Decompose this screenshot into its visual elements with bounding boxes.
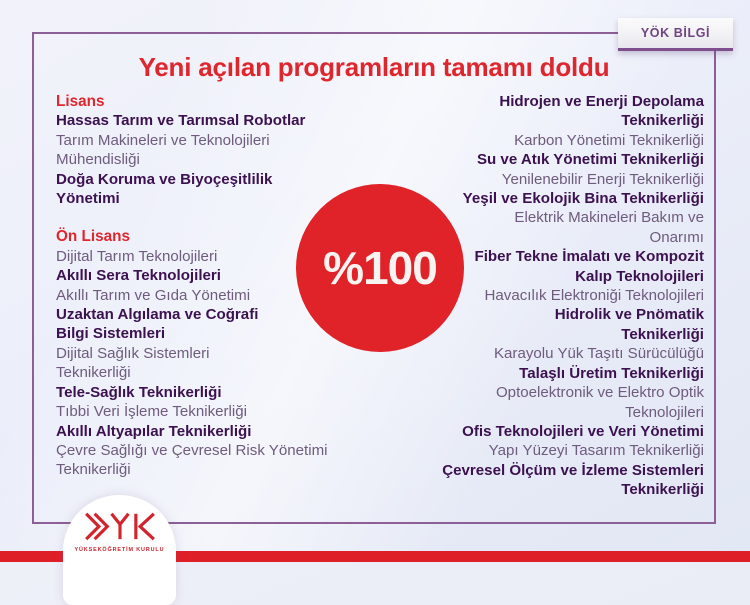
right-program-line: Çevresel Ölçüm ve İzleme Sistemleri (432, 461, 704, 480)
percentage-value: %100 (323, 241, 437, 295)
left-program-line: Çevre Sağlığı ve Çevresel Risk Yönetimi (56, 441, 348, 460)
right-program-line: Teknikerliği (432, 480, 704, 499)
right-program-line: Havacılık Elektroniği Teknolojileri (432, 286, 704, 305)
left-program-line (56, 208, 348, 227)
right-program-column: Hidrojen ve Enerji DepolamaTeknikerliğiK… (432, 92, 704, 500)
left-program-line: Tıbbi Veri İşleme Teknikerliği (56, 402, 348, 421)
right-program-line: Karbon Yönetimi Teknikerliği (432, 131, 704, 150)
right-program-line: Yapı Yüzeyi Tasarım Teknikerliği (432, 441, 704, 460)
left-program-line: Dijital Sağlık Sistemleri (56, 344, 348, 363)
right-program-line: Fiber Tekne İmalatı ve Kompozit (432, 247, 704, 266)
percentage-circle: %100 (296, 184, 464, 352)
left-program-line: Mühendisliği (56, 150, 348, 169)
right-program-line: Talaşlı Üretim Teknikerliği (432, 364, 704, 383)
right-program-line: Optoelektronik ve Elektro Optik (432, 383, 704, 402)
left-program-line: Bilgi Sistemleri (56, 324, 348, 343)
right-program-line: Su ve Atık Yönetimi Teknikerliği (432, 150, 704, 169)
left-program-line: Uzaktan Algılama ve Coğrafi (56, 305, 348, 324)
yok-bilgi-badge: YÖK BİLGİ (618, 18, 733, 51)
yok-logo-text: YÜKSEKÖĞRETİM KURULU (75, 547, 165, 553)
left-program-line: Tele-Sağlık Teknikerliği (56, 383, 348, 402)
right-program-line: Karayolu Yük Taşıtı Sürücülüğü (432, 344, 704, 363)
right-program-line: Hidrolik ve Pnömatik (432, 305, 704, 324)
right-program-line: Elektrik Makineleri Bakım ve (432, 208, 704, 227)
right-program-line: Teknikerliği (432, 325, 704, 344)
left-program-line: Hassas Tarım ve Tarımsal Robotlar (56, 111, 348, 130)
right-program-line: Yenilenebilir Enerji Teknikerliği (432, 170, 704, 189)
left-program-line: Teknikerliği (56, 363, 348, 382)
right-program-line: Hidrojen ve Enerji Depolama (432, 92, 704, 111)
left-program-line: Yönetimi (56, 189, 348, 208)
right-program-line: Onarımı (432, 228, 704, 247)
left-program-line: Teknikerliği (56, 460, 348, 479)
right-program-line: Ofis Teknolojileri ve Veri Yönetimi (432, 422, 704, 441)
yok-logo-plate: YÜKSEKÖĞRETİM KURULU (63, 495, 176, 605)
right-program-line: Yeşil ve Ekolojik Bina Teknikerliği (432, 189, 704, 208)
yok-logo-mark (83, 510, 157, 544)
left-program-line: Doğa Koruma ve Biyoçeşitlilik (56, 170, 348, 189)
page-title: Yeni açılan programların tamamı doldu (32, 52, 716, 83)
yok-bilgi-badge-label: YÖK BİLGİ (641, 26, 710, 40)
left-section-heading: Lisans (56, 92, 348, 111)
right-program-line: Kalıp Teknolojileri (432, 267, 704, 286)
right-program-line: Teknikerliği (432, 111, 704, 130)
left-program-line: Tarım Makineleri ve Teknolojileri (56, 131, 348, 150)
left-program-line: Akıllı Altyapılar Teknikerliği (56, 422, 348, 441)
right-program-line: Teknolojileri (432, 403, 704, 422)
infographic-poster: YÖK BİLGİ Yeni açılan programların tamam… (0, 0, 750, 562)
